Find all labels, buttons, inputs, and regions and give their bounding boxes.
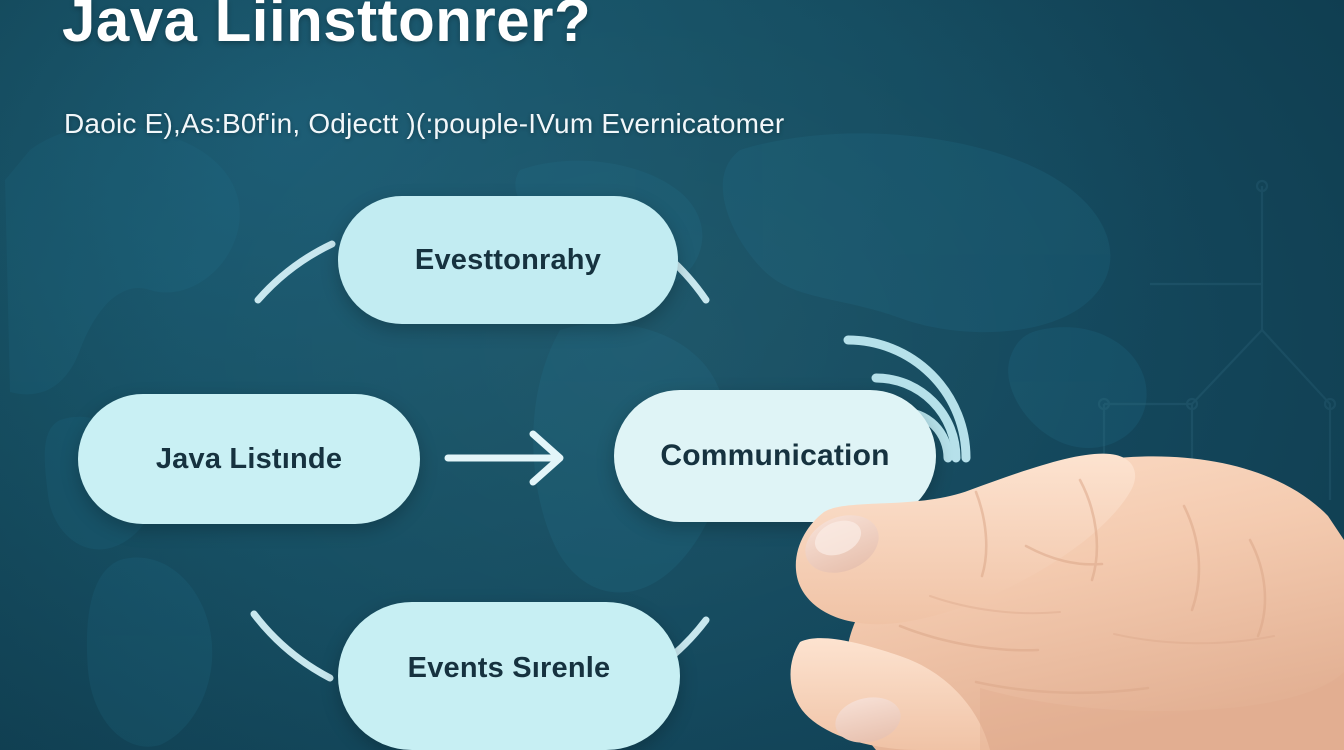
diagram-node-bottom[interactable]: Events Sırenle — [338, 602, 680, 750]
connector-arrow-icon — [448, 434, 560, 482]
diagram-node-top[interactable]: Evesttonrahy — [338, 196, 678, 324]
pointing-hand-icon — [780, 420, 1344, 750]
poster-canvas: Java Liinsttonrer? Daoic E),As:B0f'in, O… — [0, 0, 1344, 750]
diagram-node-left[interactable]: Java Listınde — [78, 394, 420, 524]
